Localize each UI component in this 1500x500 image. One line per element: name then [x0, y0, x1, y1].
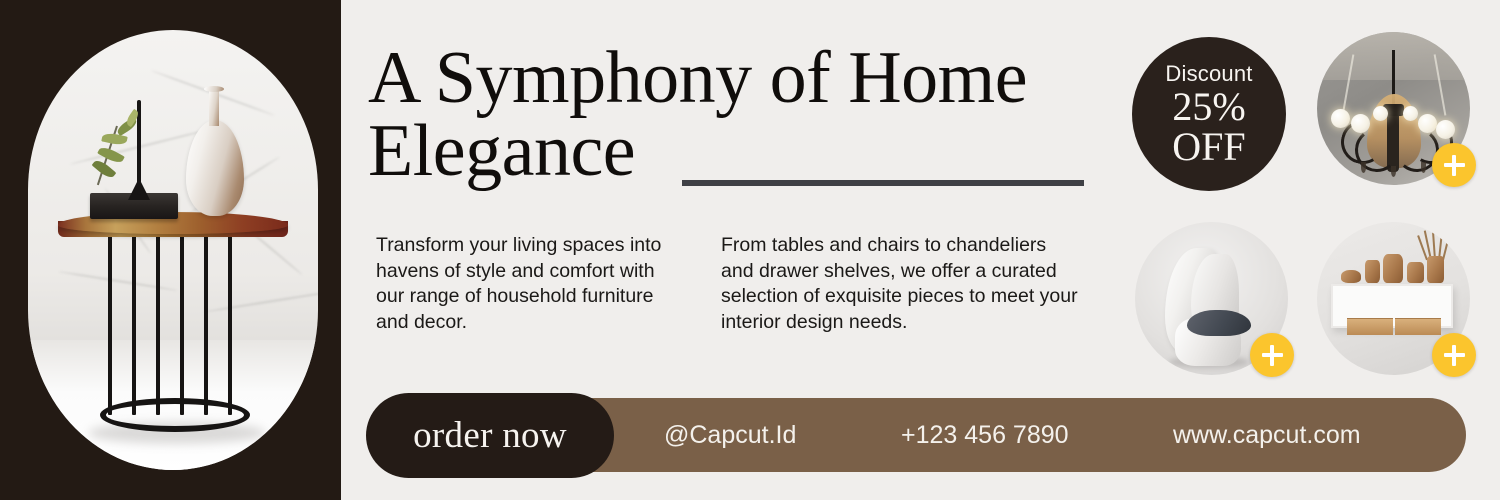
headline-line-2: Elegance	[368, 115, 1098, 188]
body-copy-left: Transform your living spaces into havens…	[376, 233, 676, 335]
hero-panel	[0, 0, 341, 500]
chandelier-drop	[1421, 162, 1426, 173]
reed-stick	[1442, 233, 1450, 261]
chandelier-bulb	[1351, 114, 1370, 133]
chandelier-bulb	[1373, 106, 1388, 121]
product-shelf[interactable]	[1317, 222, 1470, 375]
ceramic-vase	[186, 120, 244, 216]
shelf-drawer	[1347, 318, 1393, 335]
product-chandelier[interactable]	[1317, 32, 1470, 185]
ceramic-pot	[1427, 256, 1444, 283]
add-shelf-plus-icon[interactable]	[1432, 333, 1476, 377]
table-base-ring	[100, 398, 250, 432]
body-copy-right: From tables and chairs to chandeliers an…	[721, 233, 1081, 335]
ceramic-pot	[1383, 254, 1403, 283]
chandelier-drop	[1361, 162, 1366, 173]
table-leg	[204, 235, 208, 415]
order-now-label: order now	[413, 414, 567, 457]
website-url[interactable]: www.capcut.com	[1173, 421, 1361, 450]
discount-suffix: OFF	[1172, 127, 1245, 167]
wall-vein	[204, 289, 318, 313]
chandelier-bulb	[1403, 106, 1418, 121]
chandelier-bulb	[1331, 109, 1350, 128]
product-chair[interactable]	[1135, 222, 1288, 375]
hero-product-image	[28, 30, 318, 470]
headline-underline-rule	[682, 180, 1084, 186]
chandelier-drop	[1391, 166, 1396, 177]
phone-number[interactable]: +123 456 7890	[901, 421, 1069, 450]
chair-seat	[1187, 310, 1251, 336]
ceramic-pot	[1365, 260, 1380, 283]
headline-line-1: A Symphony of Home	[368, 37, 1027, 119]
table-leg	[156, 235, 160, 415]
vase-lip	[204, 86, 224, 92]
ceramic-pot	[1407, 262, 1424, 283]
table-leg	[228, 235, 232, 415]
table-leg	[180, 235, 184, 415]
chandelier-bulb	[1436, 120, 1455, 139]
discount-badge: Discount 25% OFF	[1132, 37, 1286, 191]
discount-label: Discount	[1165, 62, 1252, 86]
headline: A Symphony of Home Elegance	[368, 42, 1098, 189]
discount-percent: 25%	[1172, 87, 1245, 127]
vase-neck	[209, 88, 219, 126]
social-handle[interactable]: @Capcut.Id	[664, 421, 796, 450]
shelf-drawer	[1395, 318, 1441, 335]
promo-banner: A Symphony of Home Elegance Transform yo…	[0, 0, 1500, 500]
add-chair-plus-icon[interactable]	[1250, 333, 1294, 377]
table-leg	[132, 235, 136, 415]
add-chandelier-plus-icon[interactable]	[1432, 143, 1476, 187]
reed-stick	[1432, 226, 1436, 260]
ceramic-pot	[1341, 270, 1361, 283]
order-now-button[interactable]: order now	[366, 393, 614, 478]
table-leg	[108, 235, 112, 415]
chandelier-bulb	[1418, 114, 1437, 133]
